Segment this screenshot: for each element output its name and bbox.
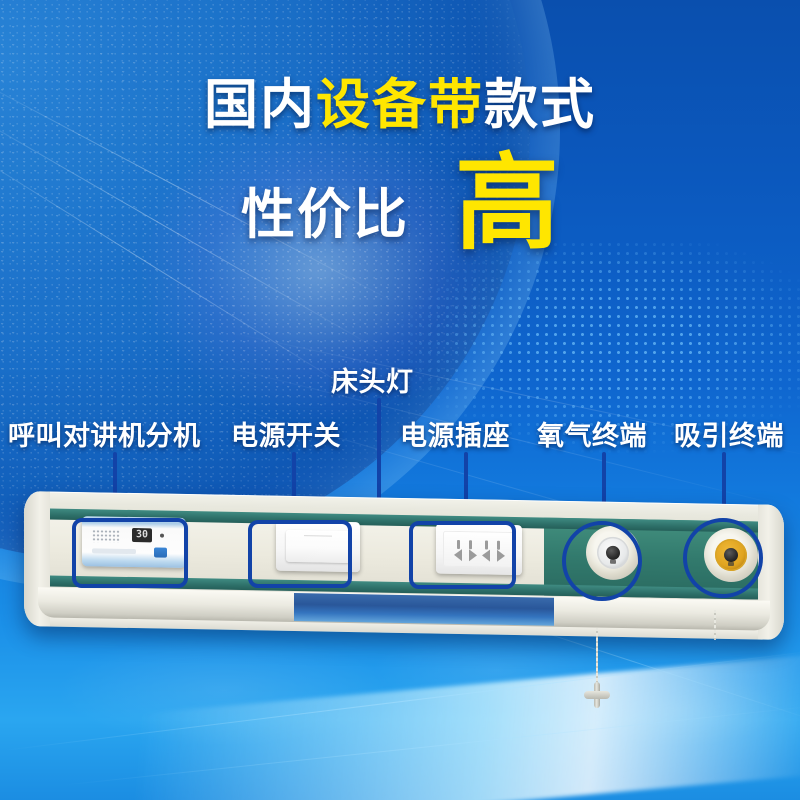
oxygen-terminal-marking <box>610 560 616 564</box>
socket-outlet-left[interactable] <box>453 540 479 560</box>
suction-tube <box>714 610 716 640</box>
power-socket[interactable] <box>436 524 522 576</box>
switch-rocker[interactable] <box>286 530 350 563</box>
speaker-grille-icon <box>92 529 120 543</box>
callout-label-oxygen: 氧气终端 <box>537 414 647 453</box>
headline-line-1: 国内设备带款式 <box>0 78 800 132</box>
suction-terminal[interactable] <box>704 527 758 582</box>
callout-label-power-switch: 电源开关 <box>231 414 341 453</box>
socket-plate <box>443 531 515 568</box>
power-switch[interactable] <box>276 521 360 573</box>
bed-light-diffuser <box>294 593 554 626</box>
panel-body: 30 <box>24 491 784 640</box>
oxygen-terminal-port <box>606 546 620 560</box>
suction-terminal-port <box>724 548 738 562</box>
callout-label-bed-light: 床头灯 <box>331 360 414 399</box>
indicator-led-icon <box>160 534 164 538</box>
subheadline-text: 性价比 <box>241 188 409 248</box>
callout-label-suction: 吸引终端 <box>674 414 784 453</box>
intercom-handset[interactable]: 30 <box>82 516 186 568</box>
pull-cord-handle[interactable] <box>584 682 610 708</box>
headline-part-2-highlight: 设备带 <box>316 75 484 135</box>
callout-label-power-socket: 电源插座 <box>400 414 510 453</box>
socket-outlet-right[interactable] <box>481 540 507 560</box>
headline-part-3: 款式 <box>484 75 596 135</box>
intercom-display: 30 <box>132 528 152 542</box>
oxygen-terminal[interactable] <box>586 525 640 580</box>
intercom-call-button[interactable] <box>154 547 167 557</box>
headline-line-2: 性价比 高 <box>0 160 800 248</box>
suction-terminal-marking <box>728 562 734 566</box>
intercom-label-strip <box>92 548 136 554</box>
callout-label-intercom: 呼叫对讲机分机 <box>8 414 201 453</box>
subheadline-highlight: 高 <box>455 160 559 248</box>
promo-banner: 国内设备带款式 性价比 高 呼叫对讲机分机 电源开关 床头灯 电源插座 氧气终端… <box>0 0 800 800</box>
headline-part-1: 国内 <box>204 75 316 135</box>
bed-head-unit: 30 <box>24 498 784 633</box>
